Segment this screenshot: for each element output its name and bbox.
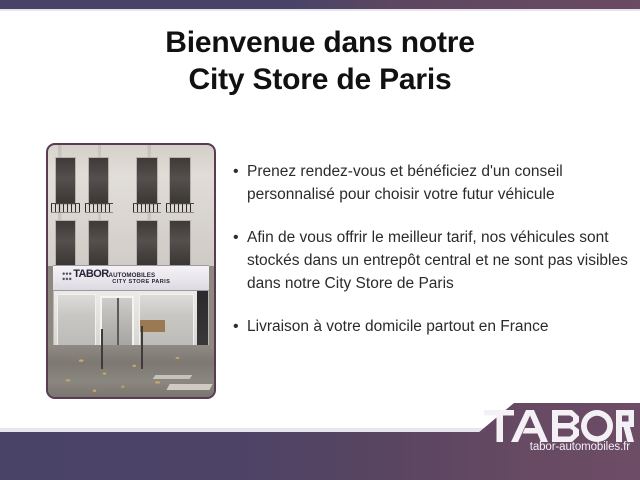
sign-dot-pattern (62, 271, 73, 282)
kerb-stone (153, 375, 192, 379)
window (55, 157, 77, 205)
top-accent-strip (0, 0, 640, 9)
balcony-railing (85, 203, 113, 213)
interior-counter (140, 320, 165, 332)
sign-brand-suffix: AUTOMOBILES (109, 272, 156, 279)
sign-brand: TABOR (73, 268, 108, 280)
page-title: Bienvenue dans notre City Store de Paris (0, 24, 640, 98)
storefront-photo: TABORAUTOMOBILES CITY STORE PARIS (46, 143, 216, 399)
window (136, 220, 158, 266)
list-item: • Prenez rendez-vous et bénéficiez d'un … (233, 160, 631, 206)
list-item: • Livraison à votre domicile partout en … (233, 315, 631, 338)
storefront-sign: TABORAUTOMOBILES CITY STORE PARIS (53, 265, 209, 291)
window (55, 220, 77, 266)
bullet-list: • Prenez rendez-vous et bénéficiez d'un … (233, 160, 631, 358)
logo-wordmark-icon (484, 410, 634, 442)
balcony-railing (133, 203, 161, 213)
shop-window (57, 294, 96, 346)
brand-logo: tabor-automobiles.fr (484, 410, 634, 453)
bullet-text: Livraison à votre domicile partout en Fr… (247, 315, 631, 338)
sign-subtitle: CITY STORE PARIS (112, 279, 170, 285)
side-panel (197, 291, 208, 346)
title-line-2: City Store de Paris (0, 61, 640, 98)
window (88, 157, 110, 205)
building-facade (48, 145, 214, 266)
window (169, 157, 191, 205)
window (136, 157, 158, 205)
balcony-railing (51, 203, 79, 213)
bullet-marker-icon: • (233, 226, 247, 249)
shop-front (53, 291, 209, 346)
bollard (141, 326, 143, 369)
balcony-railing (166, 203, 194, 213)
title-line-1: Bienvenue dans notre (0, 24, 640, 61)
bullet-marker-icon: • (233, 315, 247, 338)
kerb-stone (166, 384, 212, 390)
bullet-marker-icon: • (233, 160, 247, 183)
shop-door (100, 296, 134, 347)
pavement (48, 345, 214, 397)
top-accent-hairline (0, 9, 640, 11)
list-item: • Afin de vous offrir le meilleur tarif,… (233, 226, 631, 295)
storefront-photo-inner: TABORAUTOMOBILES CITY STORE PARIS (48, 145, 214, 397)
bullet-text: Afin de vous offrir le meilleur tarif, n… (247, 226, 631, 295)
bollard (101, 329, 103, 369)
window (88, 220, 110, 266)
window (169, 220, 191, 266)
bullet-text: Prenez rendez-vous et bénéficiez d'un co… (247, 160, 631, 206)
logo-tagline: tabor-automobiles.fr (484, 441, 634, 453)
